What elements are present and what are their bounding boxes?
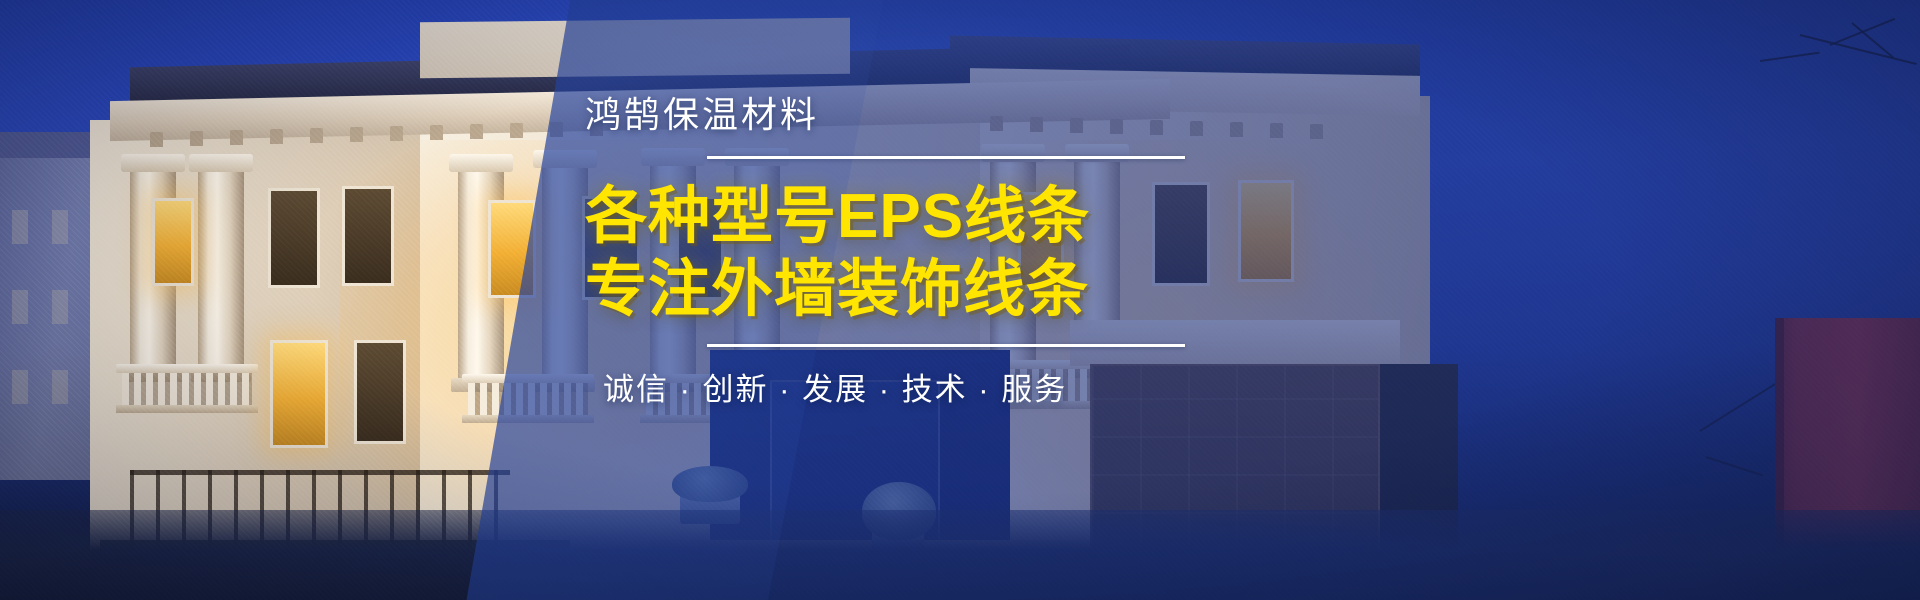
tagline: 诚信 · 创新 · 发展 · 技术 · 服务 xyxy=(603,364,1285,409)
balustrade xyxy=(122,372,252,406)
window xyxy=(268,188,320,288)
promo-banner: 鸿鹄保温材料 各种型号EPS线条 专注外墙装饰线条 诚信 · 创新 · 发展 ·… xyxy=(0,0,1920,600)
headline-line-1: 各种型号EPS线条 xyxy=(585,181,1285,254)
divider-bottom xyxy=(707,344,1185,347)
pediment xyxy=(420,18,850,79)
company-name: 鸿鹄保温材料 xyxy=(585,92,1285,137)
banner-text-block: 鸿鹄保温材料 各种型号EPS线条 专注外墙装饰线条 诚信 · 创新 · 发展 ·… xyxy=(585,92,1285,409)
window-lit xyxy=(152,198,194,286)
column xyxy=(198,170,244,370)
headline-line-2: 专注外墙装饰线条 xyxy=(585,254,1285,327)
window-lit xyxy=(270,340,328,448)
window xyxy=(354,340,406,444)
foreground-ground xyxy=(0,510,1920,600)
window xyxy=(342,186,394,286)
balustrade xyxy=(468,382,588,416)
shrub xyxy=(672,466,748,502)
window-lit xyxy=(488,200,536,298)
divider-top xyxy=(707,156,1185,159)
